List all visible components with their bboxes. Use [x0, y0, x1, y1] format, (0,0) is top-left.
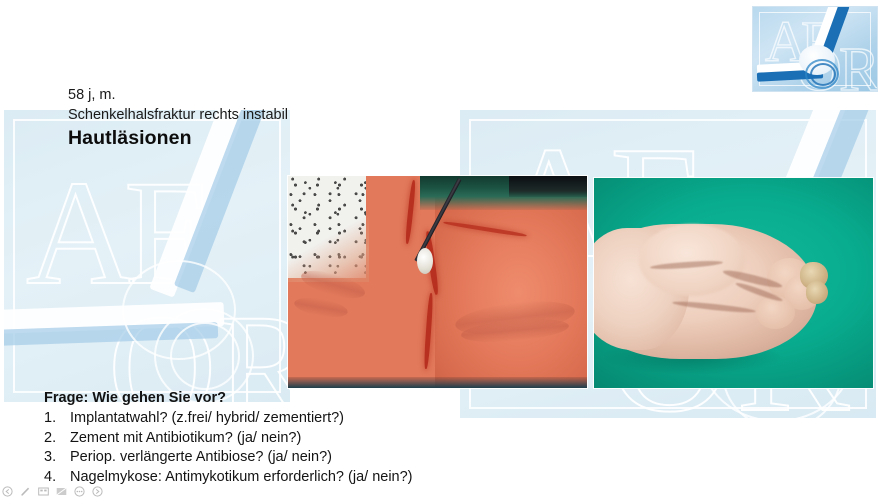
list-item-label: Zement mit Antibiotikum? (ja/ nein?)	[70, 429, 584, 449]
list-item: 4. Nagelmykose: Antimykotikum erforderli…	[44, 468, 584, 488]
more-options-icon[interactable]	[74, 486, 85, 497]
blank-screen-icon[interactable]	[56, 486, 67, 497]
next-slide-icon[interactable]	[92, 486, 103, 497]
list-item-number: 2.	[44, 429, 70, 449]
question-list: 1. Implantatwahl? (z.frei/ hybrid/ zemen…	[44, 409, 584, 487]
list-item-number: 3.	[44, 448, 70, 468]
list-item: 2. Zement mit Antibiotikum? (ja/ nein?)	[44, 429, 584, 449]
list-item: 1. Implantatwahl? (z.frei/ hybrid/ zemen…	[44, 409, 584, 429]
list-item-number: 1.	[44, 409, 70, 429]
pen-icon[interactable]	[20, 486, 31, 497]
list-item-number: 4.	[44, 468, 70, 488]
foot-nail-mycosis-photo	[594, 178, 873, 388]
watermark-panel-left: A F O R	[4, 110, 290, 402]
hip-skin-lesion-photo	[288, 176, 587, 388]
page-title: Hautläsionen	[68, 125, 538, 151]
slide-header: 58 j, m. Schenkelhalsfraktur rechts inst…	[68, 85, 538, 151]
presenter-toolbar[interactable]	[2, 486, 103, 497]
question-title: Frage: Wie gehen Sie vor?	[44, 389, 584, 408]
diagnosis-line: Schenkelhalsfraktur rechts instabil	[68, 105, 538, 125]
slide-overview-icon[interactable]	[38, 486, 49, 497]
logo-joint-graphic	[753, 7, 877, 91]
afor-logo: A F O R	[752, 6, 878, 92]
previous-slide-icon[interactable]	[2, 486, 13, 497]
list-item-label: Periop. verlängerte Antibiose? (ja/ nein…	[70, 448, 584, 468]
list-item-label: Implantatwahl? (z.frei/ hybrid/ zementie…	[70, 409, 584, 429]
question-block: Frage: Wie gehen Sie vor? 1. Implantatwa…	[44, 389, 584, 487]
list-item: 3. Periop. verlängerte Antibiose? (ja/ n…	[44, 448, 584, 468]
list-item-label: Nagelmykose: Antimykotikum erforderlich?…	[70, 468, 584, 488]
presentation-slide: A F O R A F O R	[0, 0, 888, 498]
patient-info-line: 58 j, m.	[68, 85, 538, 105]
